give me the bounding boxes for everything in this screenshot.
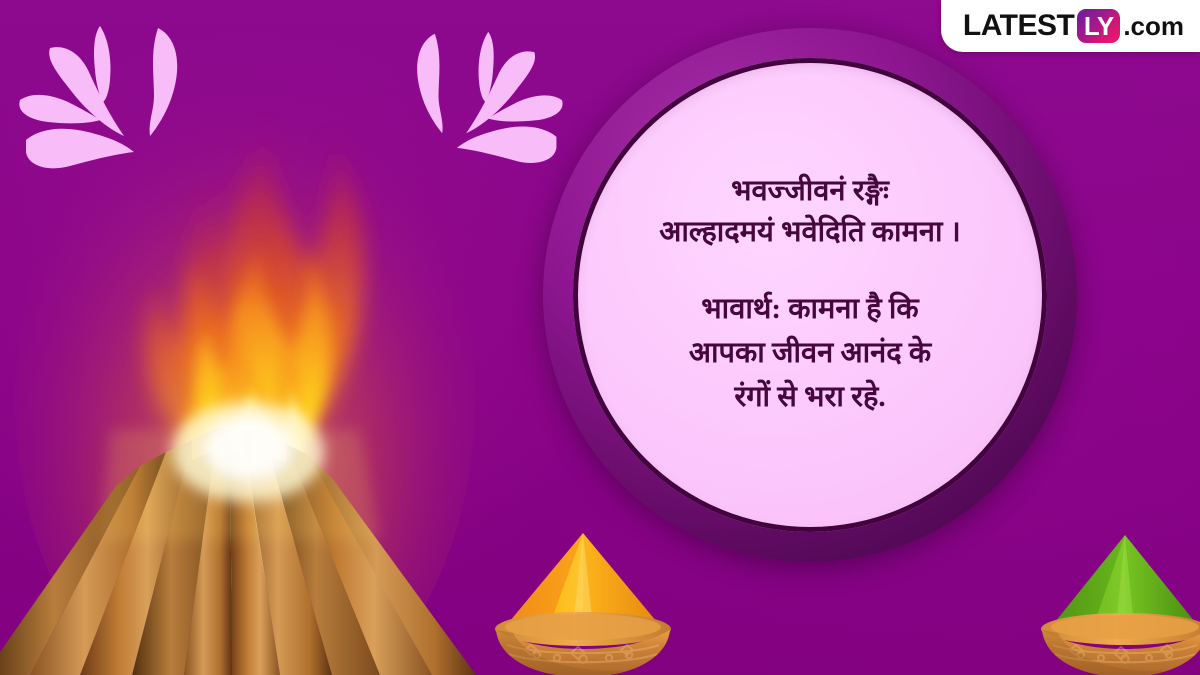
gulal-bowl-green (1035, 527, 1200, 675)
holi-greeting-card: भवज्जीवनं रङ्गैः आल्हादमयं भवेदिति कामना… (0, 0, 1200, 675)
logo-badge-ly: LY (1077, 9, 1120, 43)
meaning-line-2: आपका जीवन आनंद के (599, 331, 1021, 375)
sanskrit-verse: भवज्जीवनं रङ्गैः आल्हादमयं भवेदिति कामना… (599, 171, 1021, 253)
message-circle-plate: भवज्जीवनं रङ्गैः आल्हादमयं भवेदिति कामना… (543, 28, 1077, 562)
verse-line-2: आल्हादमयं भवेदिति कामना । (599, 212, 1021, 253)
meaning-line-3: रंगों से भरा रहे. (599, 375, 1021, 419)
splash-burst-icon-right (398, 18, 573, 183)
splash-burst-icon-left (8, 18, 198, 183)
latestly-logo[interactable]: LATEST LY .com (941, 0, 1200, 52)
meaning-line-1: भावार्थ: कामना है कि (599, 287, 1021, 331)
logo-text-com: .com (1123, 13, 1184, 39)
flame-base-glow (172, 402, 324, 502)
gulal-bowl-orange (487, 523, 679, 675)
logo-text-latest: LATEST (963, 11, 1074, 41)
hindi-meaning: भावार्थ: कामना है कि आपका जीवन आनंद के र… (599, 287, 1021, 419)
verse-line-1: भवज्जीवनं रङ्गैः (599, 171, 1021, 212)
message-circle-inner: भवज्जीवनं रङ्गैः आल्हादमयं भवेदिति कामना… (573, 58, 1047, 532)
